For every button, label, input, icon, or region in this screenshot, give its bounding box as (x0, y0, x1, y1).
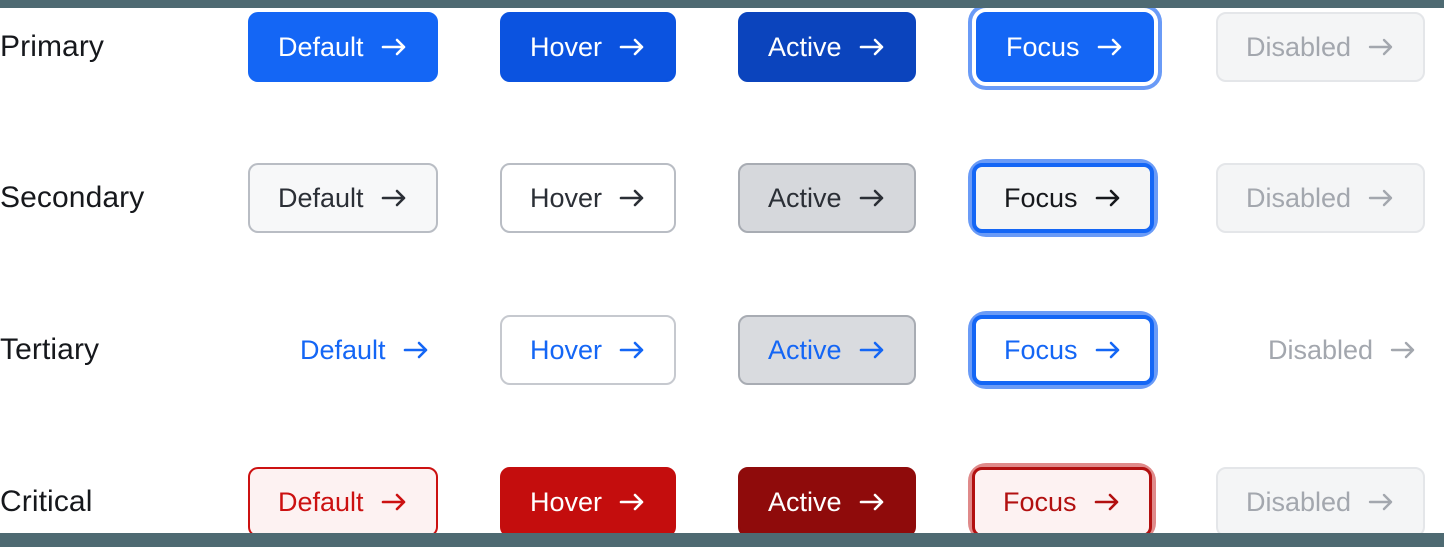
cell-primary-active: Active (738, 12, 916, 82)
focus-ring-inner: Focus (972, 8, 1158, 86)
arrow-right-icon (1389, 339, 1417, 361)
top-edge-bar (0, 0, 1444, 8)
arrow-right-icon (618, 187, 646, 209)
button-label: Focus (1004, 185, 1078, 212)
button-label: Default (278, 34, 364, 61)
button-label: Active (768, 337, 842, 364)
cell-critical-default: Default (248, 467, 438, 537)
button-primary-default[interactable]: Default (248, 12, 438, 82)
button-label: Default (278, 185, 364, 212)
arrow-right-icon (402, 339, 430, 361)
button-label: Default (300, 337, 386, 364)
button-critical-active[interactable]: Active (738, 467, 916, 537)
button-label: Disabled (1246, 489, 1351, 516)
matrix-row-critical: Critical Default Hover (0, 426, 1444, 547)
button-label: Hover (530, 337, 602, 364)
button-critical-focus[interactable]: Focus (972, 467, 1152, 537)
matrix-row-secondary: Secondary Default Hover (0, 122, 1444, 274)
button-primary-disabled: Disabled (1216, 12, 1425, 82)
cell-secondary-default: Default (248, 163, 438, 233)
cell-critical-disabled: Disabled (1216, 467, 1425, 537)
button-tertiary-disabled: Disabled (1238, 315, 1444, 385)
bottom-edge-bar (0, 533, 1444, 547)
cell-tertiary-active: Active (738, 315, 916, 385)
button-label: Hover (530, 34, 602, 61)
cell-secondary-hover: Hover (500, 163, 676, 233)
cell-critical-hover: Hover (500, 467, 676, 537)
cell-secondary-active: Active (738, 163, 916, 233)
arrow-right-icon (1094, 187, 1122, 209)
matrix-row-tertiary: Tertiary Default Hover (0, 274, 1444, 426)
arrow-right-icon (380, 187, 408, 209)
button-label: Hover (530, 489, 602, 516)
button-label: Active (768, 34, 842, 61)
focus-ring-outer: Focus (968, 311, 1158, 389)
row-label-primary: Primary (0, 30, 104, 64)
cell-primary-hover: Hover (500, 12, 676, 82)
button-primary-hover[interactable]: Hover (500, 12, 676, 82)
button-primary-focus[interactable]: Focus (976, 12, 1154, 82)
cell-primary-default: Default (248, 12, 438, 82)
arrow-right-icon (618, 36, 646, 58)
button-matrix-screen: Primary Default Hover (0, 0, 1444, 547)
arrow-right-icon (858, 491, 886, 513)
button-label: Focus (1006, 34, 1080, 61)
button-secondary-default[interactable]: Default (248, 163, 438, 233)
button-tertiary-active[interactable]: Active (738, 315, 916, 385)
button-secondary-hover[interactable]: Hover (500, 163, 676, 233)
button-tertiary-focus[interactable]: Focus (972, 315, 1154, 385)
cell-critical-focus: Focus (968, 463, 1156, 541)
button-critical-default[interactable]: Default (248, 467, 438, 537)
button-critical-disabled: Disabled (1216, 467, 1425, 537)
cell-tertiary-hover: Hover (500, 315, 676, 385)
arrow-right-icon (1367, 187, 1395, 209)
cell-critical-active: Active (738, 467, 916, 537)
arrow-right-icon (618, 491, 646, 513)
button-label: Active (768, 489, 842, 516)
button-label: Disabled (1268, 337, 1373, 364)
arrow-right-icon (1367, 36, 1395, 58)
button-label: Focus (1003, 489, 1077, 516)
button-label: Disabled (1246, 185, 1351, 212)
cell-primary-disabled: Disabled (1216, 12, 1425, 82)
button-label: Focus (1004, 337, 1078, 364)
arrow-right-icon (858, 36, 886, 58)
cell-secondary-disabled: Disabled (1216, 163, 1425, 233)
button-secondary-focus[interactable]: Focus (972, 163, 1154, 233)
focus-ring-outer: Focus (968, 4, 1162, 90)
arrow-right-icon (1093, 491, 1121, 513)
row-label-tertiary: Tertiary (0, 333, 99, 367)
button-critical-hover[interactable]: Hover (500, 467, 676, 537)
button-secondary-disabled: Disabled (1216, 163, 1425, 233)
focus-ring-outer: Focus (968, 463, 1156, 541)
arrow-right-icon (380, 491, 408, 513)
button-primary-active[interactable]: Active (738, 12, 916, 82)
button-label: Disabled (1246, 34, 1351, 61)
cell-primary-focus: Focus (968, 4, 1162, 90)
button-tertiary-default[interactable]: Default (270, 315, 460, 385)
button-label: Default (278, 489, 364, 516)
arrow-right-icon (1367, 491, 1395, 513)
arrow-right-icon (1094, 339, 1122, 361)
arrow-right-icon (618, 339, 646, 361)
cell-tertiary-disabled: Disabled (1238, 315, 1444, 385)
row-label-critical: Critical (0, 485, 92, 519)
row-label-secondary: Secondary (0, 181, 144, 215)
cell-secondary-focus: Focus (968, 159, 1158, 237)
arrow-right-icon (858, 339, 886, 361)
arrow-right-icon (1096, 36, 1124, 58)
arrow-right-icon (858, 187, 886, 209)
button-label: Active (768, 185, 842, 212)
focus-ring-outer: Focus (968, 159, 1158, 237)
button-tertiary-hover[interactable]: Hover (500, 315, 676, 385)
matrix-row-primary: Primary Default Hover (0, 0, 1444, 123)
cell-tertiary-focus: Focus (968, 311, 1158, 389)
cell-tertiary-default: Default (270, 315, 460, 385)
button-secondary-active[interactable]: Active (738, 163, 916, 233)
button-matrix: Primary Default Hover (0, 0, 1444, 547)
button-label: Hover (530, 185, 602, 212)
arrow-right-icon (380, 36, 408, 58)
